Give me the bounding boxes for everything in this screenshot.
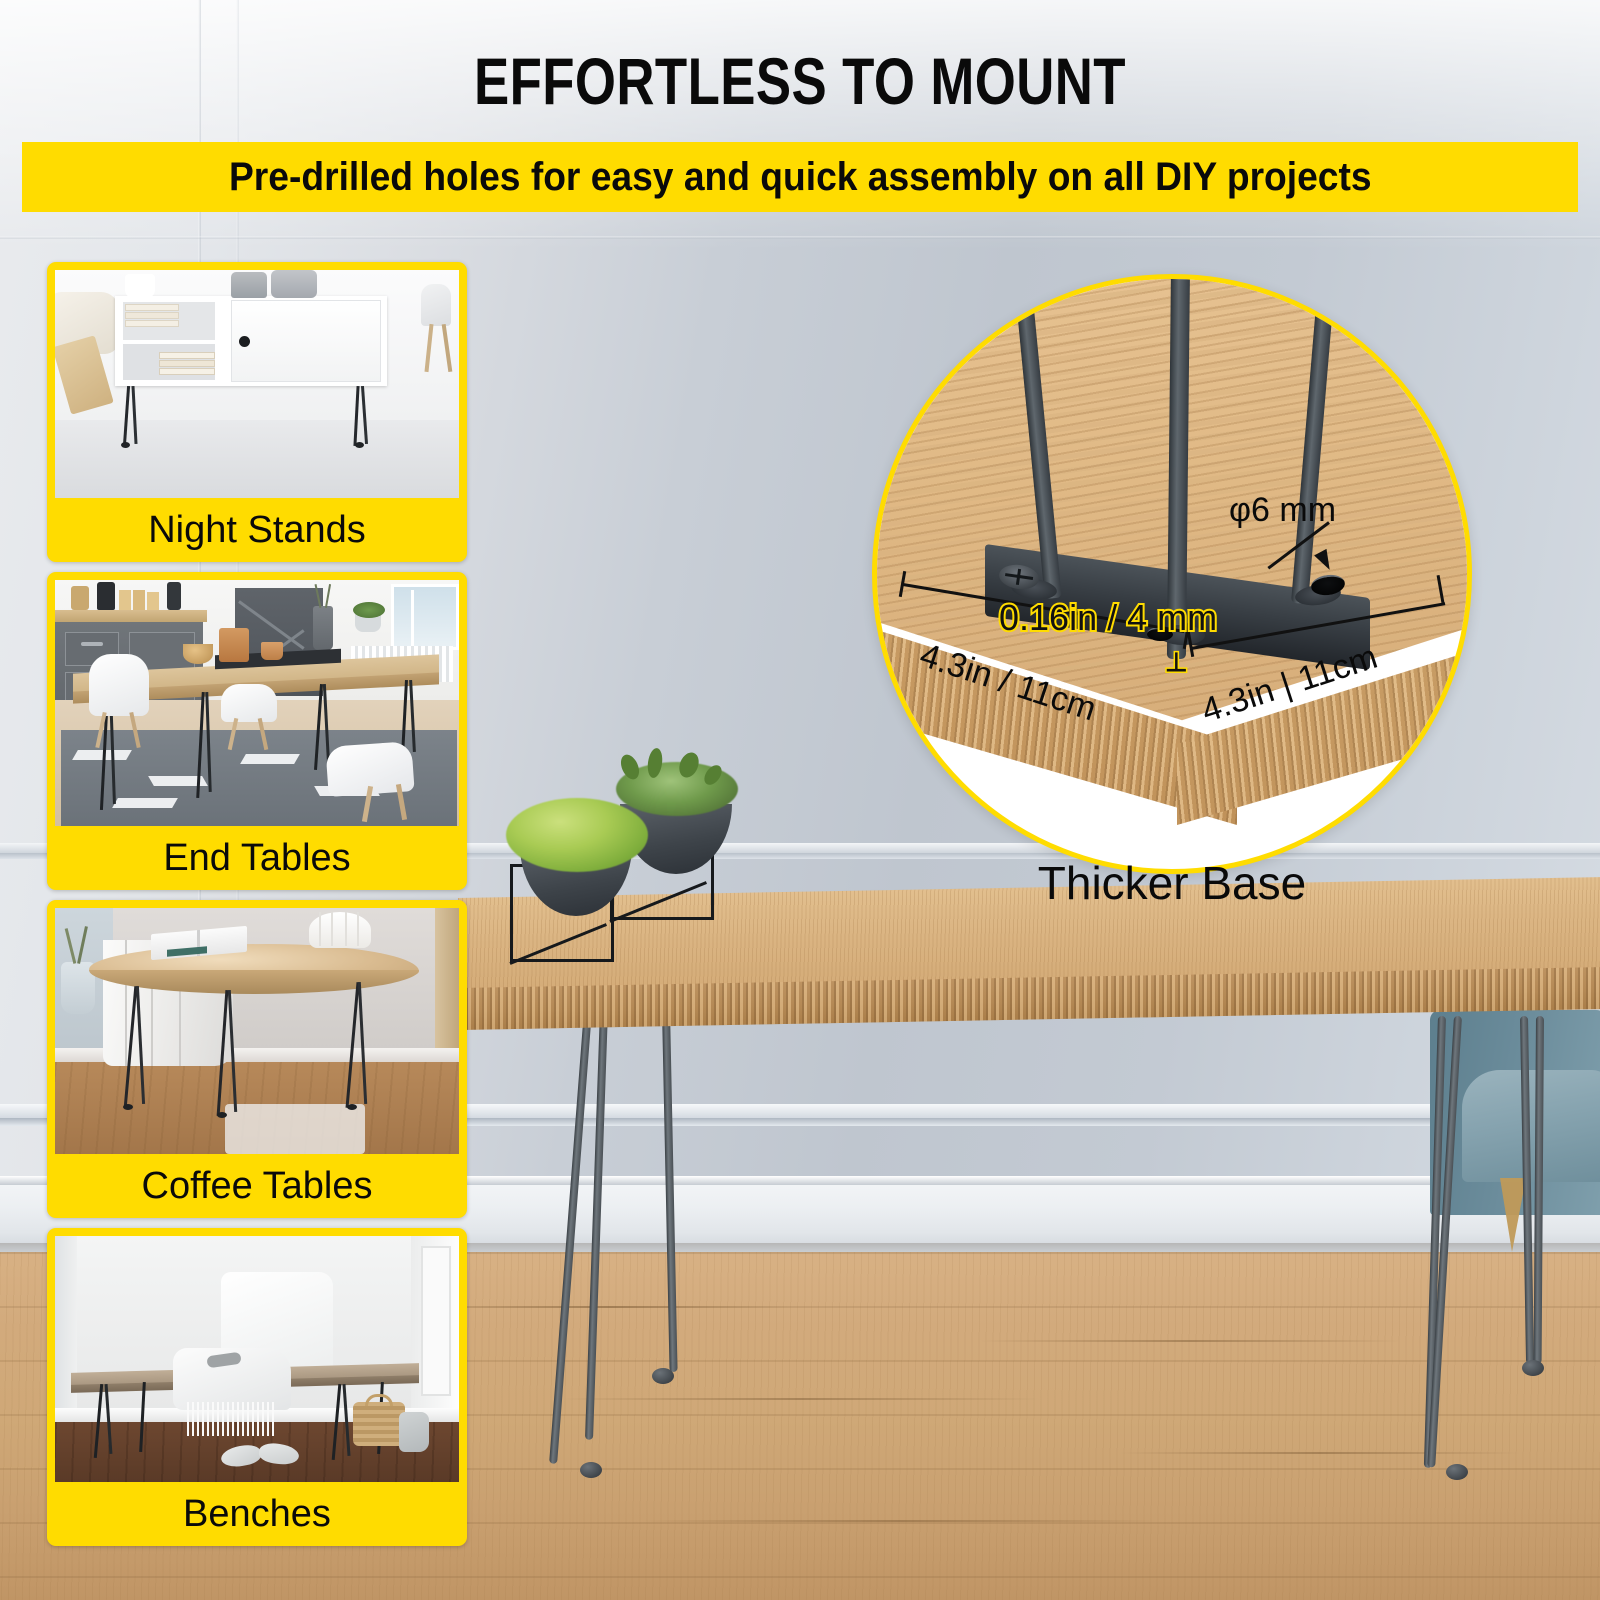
thumbnail-label: Coffee Tables	[47, 1154, 467, 1218]
dim-label-hole-diameter: φ6 mm	[1229, 491, 1336, 530]
callout-caption: Thicker Base	[872, 856, 1472, 910]
subtitle-banner: Pre-drilled holes for easy and quick ass…	[22, 142, 1578, 212]
wall-highlight	[0, 0, 1600, 250]
thumbnail-photo	[55, 1236, 459, 1482]
subtitle-text: Pre-drilled holes for easy and quick ass…	[229, 155, 1372, 200]
sofa-armrest	[1462, 1070, 1600, 1182]
leg-foot	[652, 1368, 674, 1384]
floor-plank-seam	[640, 1520, 1160, 1522]
planter-decoration	[498, 742, 748, 992]
wall-panel-line	[0, 236, 1600, 239]
thumbnail-photo	[55, 908, 459, 1154]
floor-plank-seam	[980, 1340, 1400, 1342]
moss-ball-foliage	[506, 798, 648, 872]
floor-plank-seam	[560, 1398, 1040, 1400]
leg-foot	[1522, 1360, 1544, 1376]
thumbnail-photo	[55, 580, 459, 826]
product-infographic: EFFORTLESS TO MOUNT Pre-drilled holes fo…	[0, 0, 1600, 1600]
thumbnail-photo	[55, 270, 459, 498]
thickness-marker: ⊥	[1165, 647, 1188, 678]
leg-foot	[580, 1462, 602, 1478]
thumbnail-label: Night Stands	[47, 498, 467, 562]
page-title: EFFORTLESS TO MOUNT	[160, 44, 1440, 118]
thumbnail-label: Benches	[47, 1482, 467, 1546]
dim-label-plate-thickness: 0.16in / 4 mm	[999, 597, 1217, 639]
thumbnail-card-coffee-tables[interactable]: Coffee Tables	[47, 900, 467, 1218]
thumbnail-card-end-tables[interactable]: End Tables	[47, 572, 467, 890]
detail-callout-circle: ⊥ φ6 mm 0.16in / 4 mm 4.3in / 11cm 4.3in…	[872, 274, 1472, 874]
thumbnail-card-night-stands[interactable]: Night Stands	[47, 262, 467, 562]
thumbnail-label: End Tables	[47, 826, 467, 890]
floor-plank-seam	[430, 1306, 790, 1308]
leg-foot	[1446, 1464, 1468, 1480]
floor-plank-seam	[1120, 1452, 1520, 1454]
thumbnail-card-benches[interactable]: Benches	[47, 1228, 467, 1546]
